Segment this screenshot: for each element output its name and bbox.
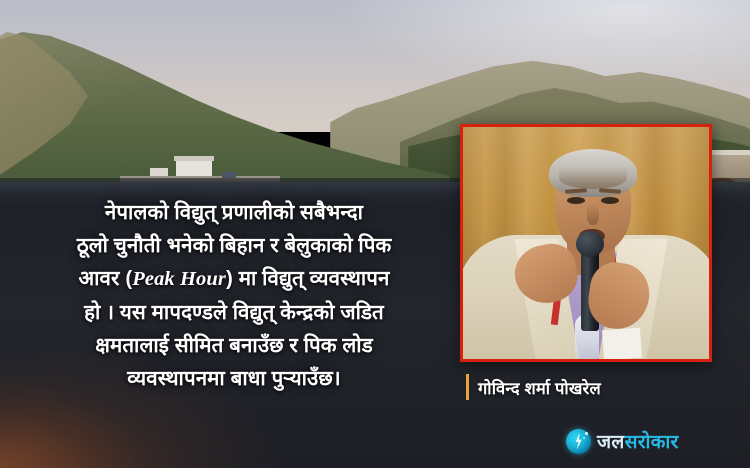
powerhouse-building <box>176 160 212 176</box>
water-energy-bolt-icon <box>566 429 591 454</box>
nose <box>587 203 599 225</box>
quote-line-1: नेपालको विद्युत् प्रणालीको सबैभन्दा <box>8 196 460 229</box>
quote-line-6: व्यवस्थापनमा बाधा पुऱ्याउँछ। <box>8 362 460 395</box>
bolt-glyph <box>574 433 583 450</box>
quote-line-4: हो । यस मापदण्डले विद्युत् केन्द्रको जडि… <box>8 296 460 329</box>
quote-line-3: आवर (Peak Hour) मा विद्युत् व्यवस्थापन <box>8 262 460 296</box>
subject-hair <box>549 149 637 197</box>
spark-dot-large <box>585 432 588 435</box>
speaker-name: गोविन्द शर्मा पोखरेल <box>478 376 601 399</box>
portrait-photo <box>460 124 712 362</box>
logo-text-part2: सरोकार <box>625 432 679 453</box>
quote-line-3-english: Peak Hour <box>132 268 226 290</box>
quote-line-5: क्षमतालाई सीमित बनाउँछ र पिक लोड <box>8 329 460 362</box>
quote-card: नेपालको विद्युत् प्रणालीको सबैभन्दा ठूलो… <box>0 0 750 468</box>
microphone-head <box>576 231 604 257</box>
quote-line-2: ठूलो चुनौती भनेको बिहान र बेलुकाको पिक <box>8 229 460 262</box>
site-logo[interactable]: जलसरोकार <box>566 428 679 454</box>
name-badge <box>602 328 642 361</box>
logo-text-part1: जल <box>597 432 625 453</box>
logo-wordmark: जलसरोकार <box>597 428 679 454</box>
quote-text: नेपालको विद्युत् प्रणालीको सबैभन्दा ठूलो… <box>8 196 460 395</box>
spark-dot-small <box>583 437 585 439</box>
accent-bar <box>466 374 469 400</box>
speaker-name-caption: गोविन्द शर्मा पोखरेल <box>466 374 601 400</box>
eye-left <box>567 197 585 204</box>
quote-line-3-post: ) मा विद्युत् व्यवस्थापन <box>226 267 389 290</box>
eye-right <box>601 197 619 204</box>
small-building <box>150 168 168 176</box>
quote-line-3-pre: आवर ( <box>79 267 133 290</box>
